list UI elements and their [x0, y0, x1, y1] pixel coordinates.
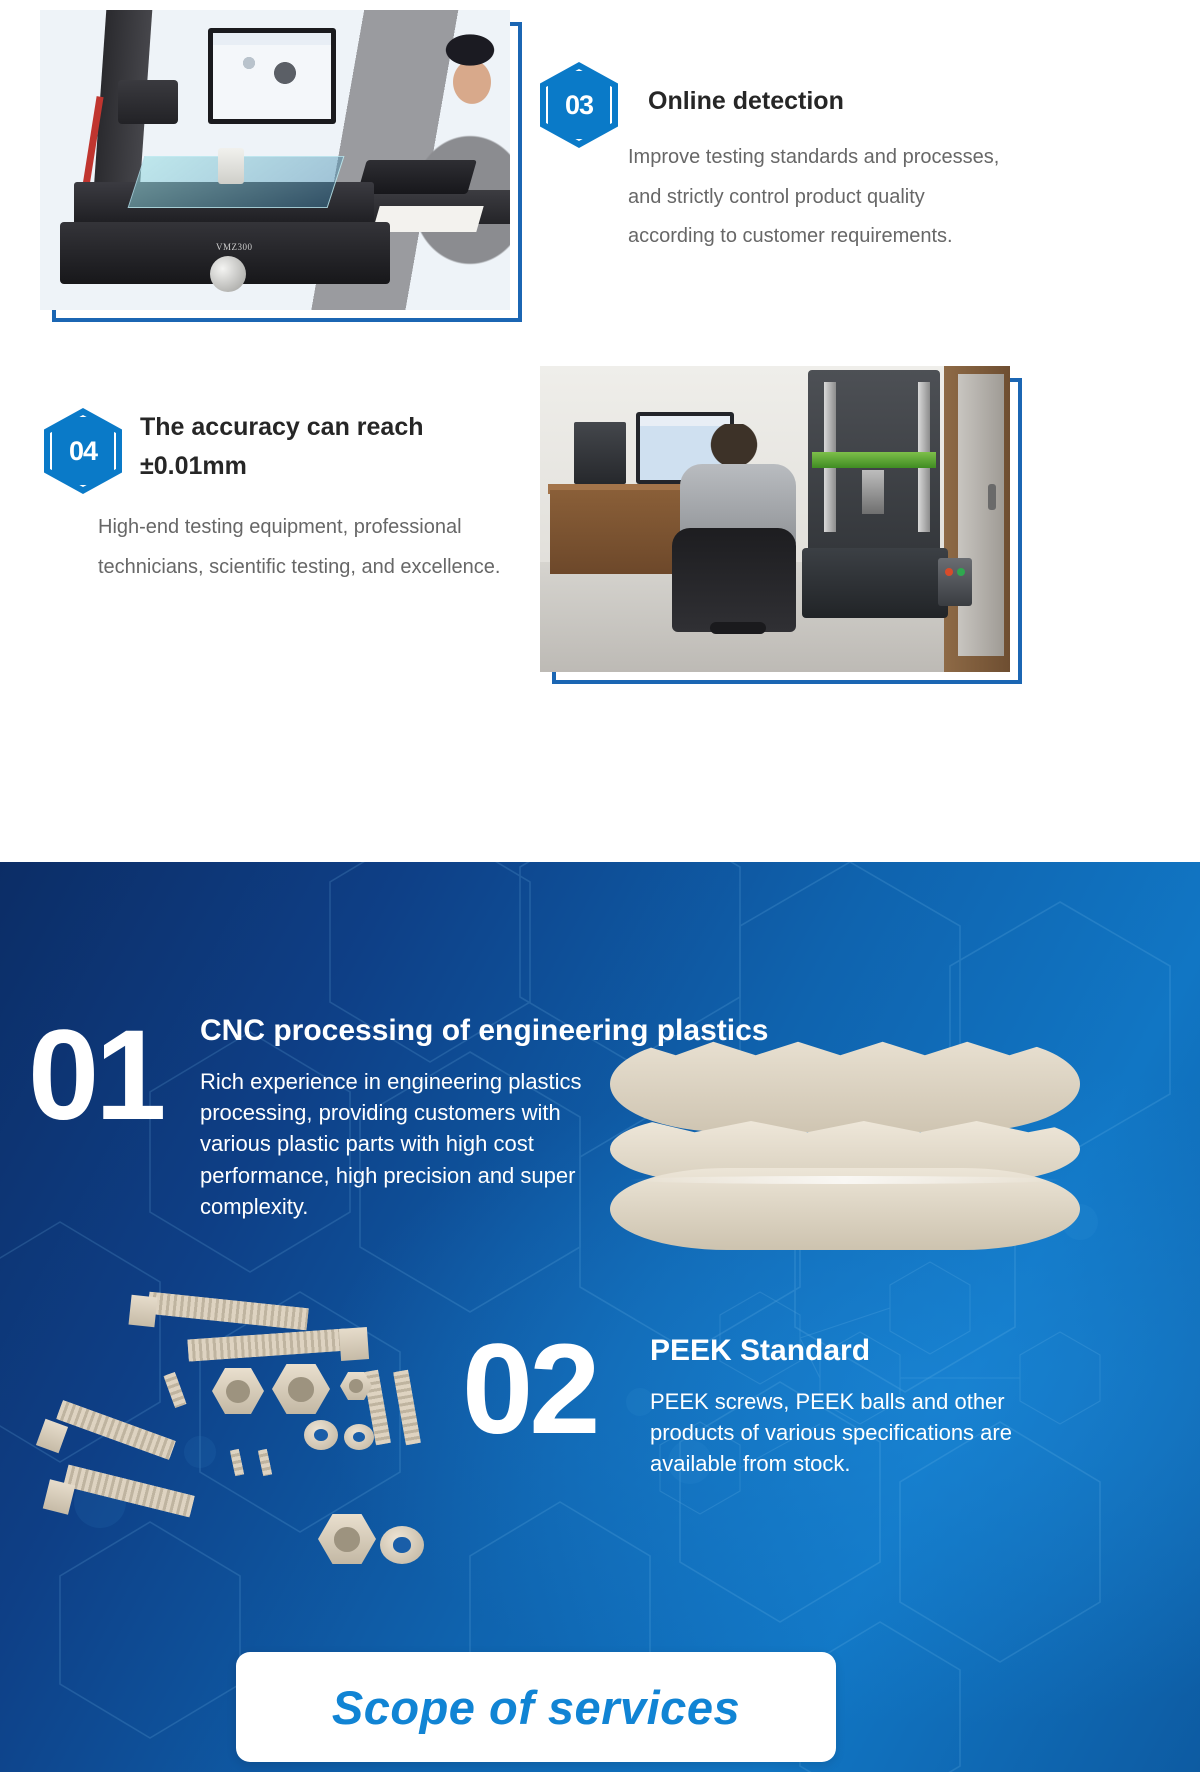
peek-washer	[380, 1526, 424, 1564]
scope-of-services-title: Scope of services	[332, 1680, 740, 1735]
service-title-peek-standard: PEEK Standard	[650, 1334, 870, 1368]
peek-bolt	[63, 1465, 194, 1518]
machine-optical-head	[118, 80, 178, 124]
office-chair	[672, 528, 796, 632]
keyboard	[357, 160, 477, 194]
peek-bolt-head	[129, 1295, 158, 1328]
chair-base	[710, 622, 766, 634]
peek-bolt-head	[43, 1479, 75, 1514]
door-handle	[988, 484, 996, 510]
feature-body-accuracy: High-end testing equipment, professional…	[98, 508, 528, 587]
machine-monitor	[208, 28, 336, 124]
tensile-grip	[862, 470, 884, 514]
peek-nut	[212, 1368, 264, 1414]
peek-washer	[344, 1424, 374, 1450]
peek-bolt	[187, 1328, 348, 1361]
peek-bolt-head	[339, 1327, 369, 1361]
photo-peek-fasteners	[40, 1272, 480, 1572]
door-panel	[958, 374, 1004, 656]
tensile-base	[802, 548, 948, 618]
feature-body-online-detection: Improve testing standards and processes,…	[628, 138, 1008, 257]
sample-part	[218, 148, 244, 184]
peek-small-screw	[164, 1372, 187, 1408]
tensile-control-panel	[938, 558, 972, 606]
machine-knob	[210, 256, 246, 292]
computer-tower	[574, 422, 626, 484]
features-section: VMZ300 03 Online detection Improve testi…	[0, 0, 1200, 862]
service-body-cnc-processing: Rich experience in engineering plastics …	[200, 1066, 608, 1222]
tensile-crosshead	[812, 452, 936, 468]
peek-washer	[304, 1420, 338, 1450]
photo-testing-lab	[540, 366, 1010, 672]
peek-bolt-head	[36, 1419, 68, 1454]
machine-model-label: VMZ300	[216, 242, 253, 252]
peek-bolt	[393, 1370, 421, 1445]
scope-of-services-card: Scope of services	[236, 1652, 836, 1762]
service-number-01: 01	[28, 1012, 162, 1140]
photo-testing-lab-image	[540, 366, 1010, 672]
badge-hexagon-04: 04	[44, 408, 122, 494]
peek-part-top-band	[610, 1036, 1080, 1132]
photo-peek-machined-part	[610, 1036, 1080, 1276]
page-root: VMZ300 03 Online detection Improve testi…	[0, 0, 1200, 1772]
peek-part-highlight	[629, 1176, 1061, 1184]
measuring-machine-illustration: VMZ300	[40, 10, 510, 310]
peek-nut	[318, 1514, 376, 1564]
peek-small-screw	[258, 1449, 272, 1476]
photo-online-detection: VMZ300	[40, 10, 510, 310]
peek-bolt	[147, 1292, 308, 1331]
service-body-peek-standard: PEEK screws, PEEK balls and other produc…	[650, 1386, 1034, 1480]
badge-number: 03	[540, 62, 618, 148]
feature-title-accuracy: The accuracy can reach ±0.01mm	[140, 408, 500, 486]
badge-number: 04	[44, 408, 122, 494]
scope-of-services-section: Scope of services 01 CNC processing of e…	[0, 862, 1200, 1772]
badge-hexagon-03: 03	[540, 62, 618, 148]
photo-online-detection-image: VMZ300	[40, 10, 510, 310]
peek-nut	[272, 1364, 330, 1414]
service-number-02: 02	[462, 1326, 596, 1454]
service-title-cnc-processing: CNC processing of engineering plastics	[200, 1014, 768, 1048]
tensile-tester-illustration	[540, 366, 1010, 672]
peek-small-screw	[230, 1449, 244, 1476]
peek-bolt	[56, 1400, 176, 1460]
feature-title-online-detection: Online detection	[648, 82, 1048, 121]
